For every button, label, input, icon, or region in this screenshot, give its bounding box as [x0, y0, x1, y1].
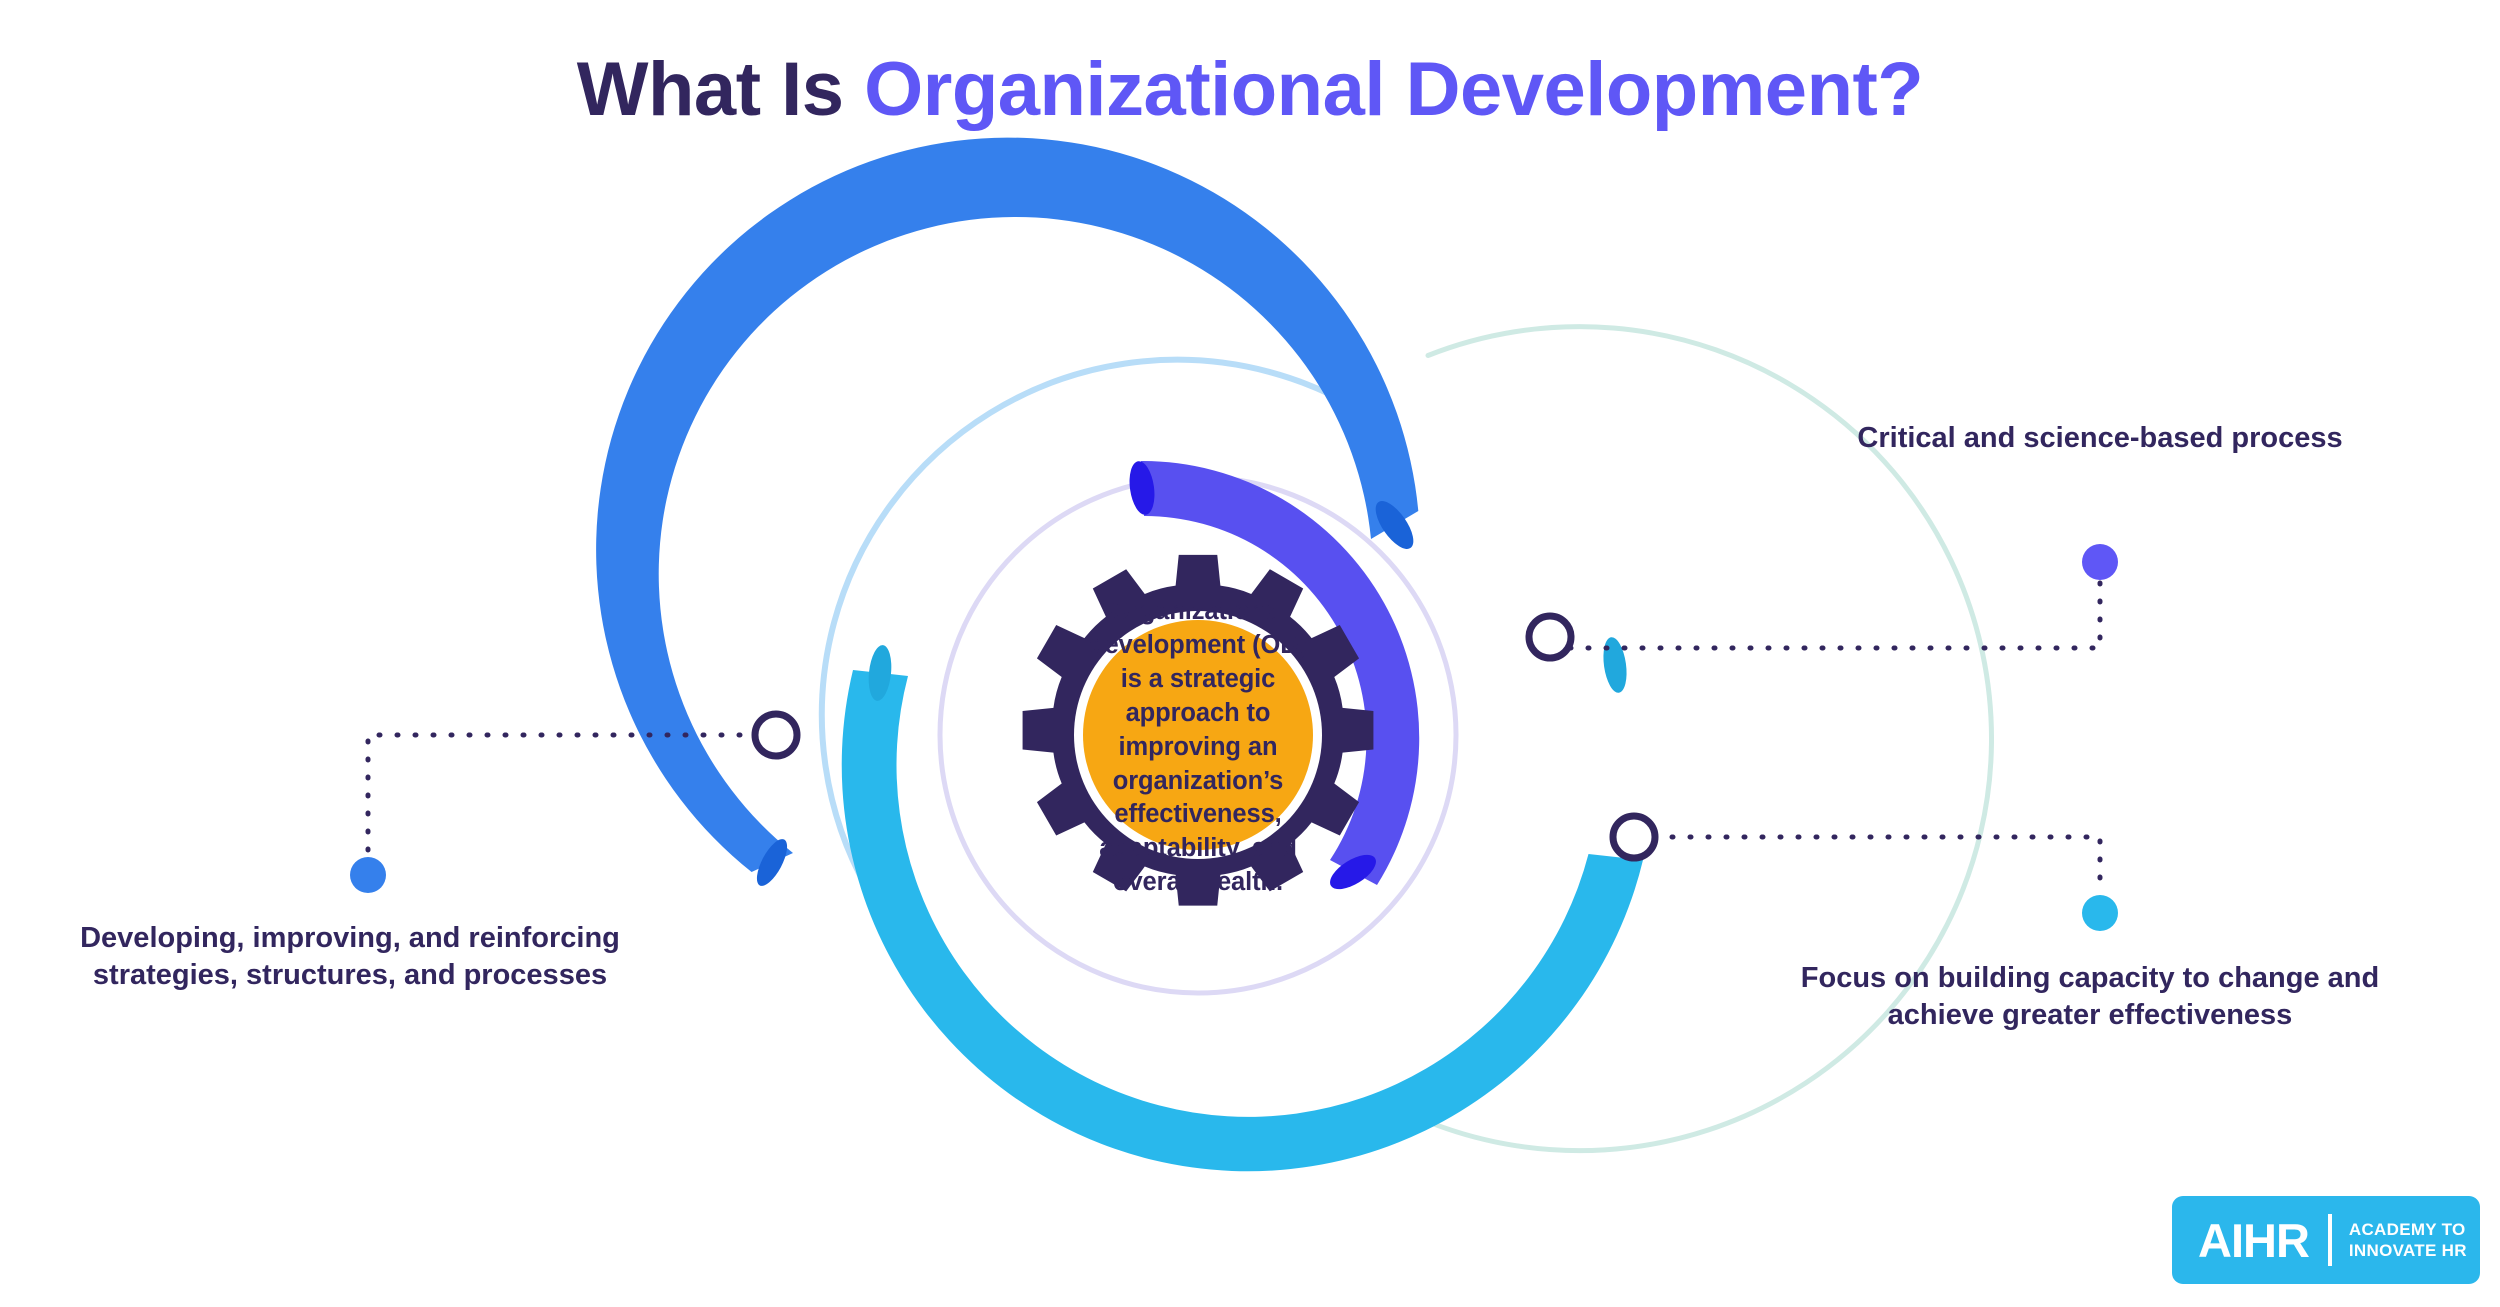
connector-top-right — [1570, 572, 2100, 648]
connector-bottom-right — [1654, 837, 2100, 895]
arc-cyan-cap-top — [1600, 636, 1630, 695]
center-definition-text: Organizational development (OD) is a str… — [1083, 595, 1313, 900]
marker-left[interactable] — [755, 714, 797, 756]
infographic-canvas: What Is Organizational Development? — [0, 0, 2500, 1307]
callout-label-left: Developing, improving, and reinforcing s… — [70, 920, 630, 994]
callout-dot-left — [350, 857, 386, 893]
logo-tagline: ACADEMY TO INNOVATE HR — [2349, 1219, 2467, 1262]
marker-top-right[interactable] — [1529, 616, 1571, 658]
marker-bottom-right[interactable] — [1613, 816, 1655, 858]
logo-divider — [2328, 1214, 2332, 1266]
callout-dot-bottom-right — [2082, 895, 2118, 931]
callout-dot-top-right — [2082, 544, 2118, 580]
callout-label-top-right: Critical and science-based process — [1790, 420, 2410, 457]
logo-tagline-line2: INNOVATE HR — [2349, 1240, 2467, 1261]
logo-tagline-line1: ACADEMY TO — [2349, 1219, 2467, 1240]
callout-label-bottom-right: Focus on building capacity to change and… — [1780, 960, 2400, 1034]
aihr-logo[interactable]: AIHR ACADEMY TO INNOVATE HR — [2172, 1196, 2480, 1284]
logo-wordmark: AIHR — [2198, 1217, 2309, 1264]
